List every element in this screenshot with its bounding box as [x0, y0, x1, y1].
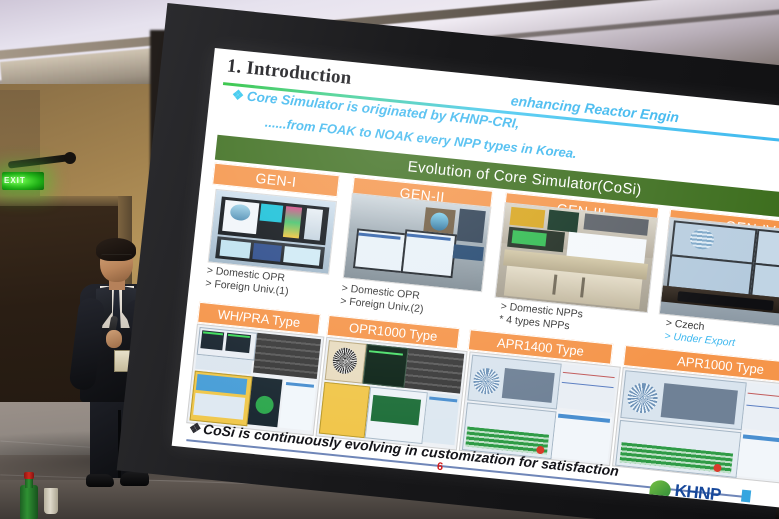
projection-screen: 1. Introduction enhancing Reactor Engin … [145, 18, 779, 519]
bottle-cap [24, 472, 34, 479]
gen-caption-2: > Domestic OPR > Foreign Univ.(2) [340, 282, 426, 315]
diamond-bullet-icon-footer: ❖ [187, 419, 201, 436]
exit-sign-label: EXIT [4, 175, 42, 187]
simulator-screenshot-1 [186, 324, 324, 436]
paper-cup [44, 488, 58, 514]
presentation-room-photo: EXIT 1. Introductio [0, 0, 779, 519]
gen-photo-1 [208, 189, 337, 275]
bottle [20, 485, 38, 519]
glasses-icon [101, 254, 132, 262]
simulator-screenshot-4 [612, 367, 779, 486]
gen-photo-4 [659, 217, 779, 332]
presenter-shoe-left [86, 474, 114, 487]
slide-canvas: 1. Introduction enhancing Reactor Engin … [172, 48, 779, 508]
presenter-hand-left [106, 330, 122, 348]
gen-photo-3 [495, 202, 659, 313]
door-frame-top [0, 196, 132, 206]
gen-photo-2 [343, 193, 492, 293]
simulator-screenshot-2 [316, 337, 468, 451]
diamond-bullet-icon: ❖ [231, 87, 245, 103]
page-number: 6 [436, 461, 443, 474]
gen-caption-4: > Czech > Under Export [664, 317, 737, 349]
exit-sign-mount-knob [64, 152, 76, 164]
